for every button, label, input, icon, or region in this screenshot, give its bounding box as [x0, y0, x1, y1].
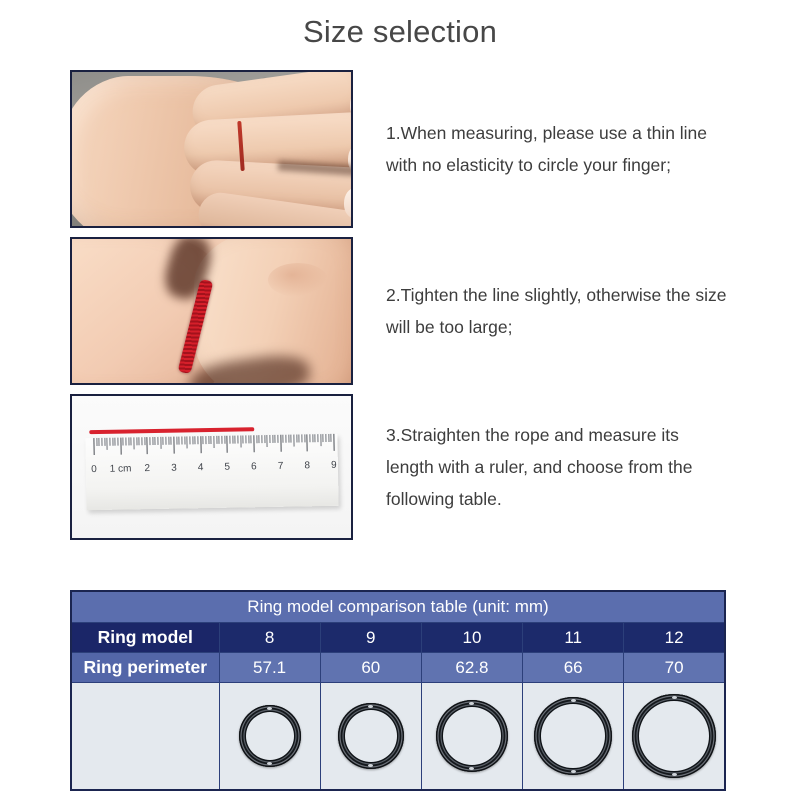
cell-ring-perimeter: 70	[624, 653, 725, 683]
ruler-tick	[101, 438, 102, 446]
ruler-tick	[256, 435, 257, 443]
cell-ring-preview	[624, 683, 725, 791]
ruler-tick	[285, 435, 286, 443]
ruler-tick	[195, 436, 196, 444]
ruler-number: 1 cm	[110, 463, 132, 474]
ruler-tick	[277, 435, 278, 443]
ruler-tick	[251, 435, 252, 443]
ruler-tick	[165, 437, 166, 445]
knuckle-highlight	[268, 263, 328, 297]
ruler-tick	[189, 436, 190, 444]
ruler-tick	[264, 435, 265, 443]
page-title: Size selection	[0, 14, 800, 50]
ruler-tick	[120, 438, 121, 455]
ruler-tick	[229, 436, 230, 444]
cell-ring-perimeter: 62.8	[421, 653, 522, 683]
table-row-ring-perimeter: Ring perimeter 57.16062.86670	[71, 653, 725, 683]
ruler-tick	[171, 437, 172, 445]
ruler-tick	[219, 436, 220, 444]
ruler-tick	[227, 436, 228, 453]
ring-image	[632, 694, 716, 778]
ruler-number: 3	[171, 463, 177, 474]
step-1-text-block: 1.When measuring, please use a thin line…	[353, 70, 730, 228]
table-row-ring-model: Ring model 89101112	[71, 623, 725, 653]
step-3-text-block: 3.Straighten the rope and measure its le…	[353, 394, 730, 540]
row-label-ring-perimeter: Ring perimeter	[71, 653, 219, 683]
ruler-tick	[304, 434, 305, 442]
ruler-tick	[179, 437, 180, 445]
ruler-tick	[253, 435, 254, 452]
ruler-number: 8	[304, 460, 310, 471]
ruler-tick	[208, 436, 209, 444]
ring-image	[239, 705, 301, 767]
cell-ring-perimeter: 57.1	[219, 653, 320, 683]
hand-with-thin-thread-photo	[70, 70, 353, 228]
cell-ring-model: 12	[624, 623, 725, 653]
table-caption: Ring model comparison table (unit: mm)	[71, 591, 725, 623]
ruler-tick	[288, 435, 289, 443]
ruler-tick	[197, 436, 198, 444]
ruler-number: 4	[198, 462, 204, 473]
ruler-tick	[203, 436, 204, 444]
ruler-tick	[333, 434, 334, 451]
ruler-tick	[248, 435, 249, 443]
ruler-number: 0	[91, 464, 97, 475]
ruler-tick	[320, 434, 321, 446]
ruler-tick	[293, 435, 294, 447]
cell-ring-model: 10	[421, 623, 522, 653]
ruler-tick	[104, 438, 105, 446]
ruler-tick	[168, 437, 169, 445]
ruler-tick	[315, 434, 316, 442]
cell-ring-preview	[219, 683, 320, 791]
cell-ring-model: 11	[523, 623, 624, 653]
ruler-tick	[181, 437, 182, 445]
ruler-tick	[267, 435, 268, 447]
ruler-tick	[107, 438, 108, 450]
steps-section: 1.When measuring, please use a thin line…	[70, 70, 730, 549]
ruler-number: 5	[224, 462, 230, 473]
ruler-tick	[139, 437, 140, 445]
ruler-tick	[213, 436, 214, 448]
ruler-tick	[184, 436, 185, 444]
ring-image	[534, 697, 612, 775]
ruler-tick	[309, 434, 310, 442]
step-3-text: 3.Straighten the rope and measure its le…	[386, 419, 730, 515]
step-row-2: 2.Tighten the line slightly, otherwise t…	[70, 237, 730, 385]
ruler-tick	[307, 434, 308, 451]
finger-closeup-red-thread-photo	[70, 237, 353, 385]
cell-ring-model: 8	[219, 623, 320, 653]
ruler-tick	[224, 436, 225, 444]
ruler-tick	[109, 438, 110, 446]
ruler-tick	[240, 435, 241, 447]
ruler-tick	[283, 435, 284, 443]
ruler-number: 9	[331, 460, 337, 471]
step-2-text-block: 2.Tighten the line slightly, otherwise t…	[353, 237, 730, 385]
ruler-tick	[317, 434, 318, 442]
ruler-tick	[187, 436, 188, 448]
ruler-tick	[328, 434, 329, 442]
cell-ring-preview	[523, 683, 624, 791]
ruler-tick	[128, 437, 129, 445]
ruler-tick	[163, 437, 164, 445]
ruler-measuring-thread-photo: 01 cm23456789	[70, 394, 353, 540]
ruler-tick	[133, 437, 134, 449]
ruler-tick	[211, 436, 212, 444]
ruler-tick	[141, 437, 142, 445]
ring-image	[436, 700, 508, 772]
ruler-tick	[261, 435, 262, 443]
ruler-tick	[157, 437, 158, 445]
ruler-tick	[291, 435, 292, 443]
ruler-tick	[123, 438, 124, 446]
ruler-tick	[245, 435, 246, 443]
ruler-tick	[117, 438, 118, 446]
ruler-tick	[125, 437, 126, 445]
ruler-tick	[93, 438, 94, 455]
ring-preview-empty-cell	[71, 683, 219, 791]
ruler-number: 7	[278, 461, 284, 472]
cell-ring-preview	[320, 683, 421, 791]
ruler-tick	[299, 434, 300, 442]
ruler-tick	[96, 438, 97, 446]
ruler-tick	[131, 437, 132, 445]
ruler-tick	[160, 437, 161, 449]
ring-image	[338, 703, 404, 769]
ruler-tick	[155, 437, 156, 445]
ruler-tick	[144, 437, 145, 445]
ruler-tick	[205, 436, 206, 444]
ruler-number: 2	[144, 463, 150, 474]
ruler-tick	[312, 434, 313, 442]
ruler-tick	[173, 437, 174, 454]
ruler-tick	[301, 434, 302, 442]
ruler-tick	[152, 437, 153, 445]
ruler-tick	[147, 437, 148, 454]
ruler-tick	[235, 436, 236, 444]
cell-ring-perimeter: 66	[523, 653, 624, 683]
ruler-tick	[115, 438, 116, 446]
step-row-1: 1.When measuring, please use a thin line…	[70, 70, 730, 228]
ruler-tick	[221, 436, 222, 444]
ruler-number: 6	[251, 461, 257, 472]
ruler-tick	[331, 434, 332, 442]
cell-ring-preview	[421, 683, 522, 791]
ruler-tick	[296, 435, 297, 443]
ruler-tick	[112, 438, 113, 446]
step-row-3: 01 cm23456789 3.Straighten the rope and …	[70, 394, 730, 540]
ruler-tick	[99, 438, 100, 446]
ruler-tick	[149, 437, 150, 445]
ruler-tick	[243, 435, 244, 443]
cell-ring-model: 9	[320, 623, 421, 653]
ruler-tick	[275, 435, 276, 443]
ruler-tick	[280, 435, 281, 452]
ruler-tick	[192, 436, 193, 444]
ruler-tick	[323, 434, 324, 442]
ruler-tick	[136, 437, 137, 445]
cell-ring-perimeter: 60	[320, 653, 421, 683]
row-label-ring-model: Ring model	[71, 623, 219, 653]
ruler-tick	[269, 435, 270, 443]
ruler-number-labels: 01 cm23456789	[86, 460, 338, 482]
ruler-tick	[272, 435, 273, 443]
ruler-tick	[237, 436, 238, 444]
ruler: 01 cm23456789	[85, 434, 338, 510]
ruler-tick	[216, 436, 217, 444]
ring-model-comparison-table: Ring model comparison table (unit: mm) R…	[70, 590, 726, 791]
table-caption-row: Ring model comparison table (unit: mm)	[71, 591, 725, 623]
step-2-text: 2.Tighten the line slightly, otherwise t…	[386, 279, 730, 343]
step-1-text: 1.When measuring, please use a thin line…	[386, 117, 730, 181]
ruler-tick	[325, 434, 326, 442]
ruler-tick	[200, 436, 201, 453]
ruler-tick	[176, 437, 177, 445]
ruler-tick	[259, 435, 260, 443]
ruler-tick	[232, 436, 233, 444]
table-row-ring-previews	[71, 683, 725, 791]
